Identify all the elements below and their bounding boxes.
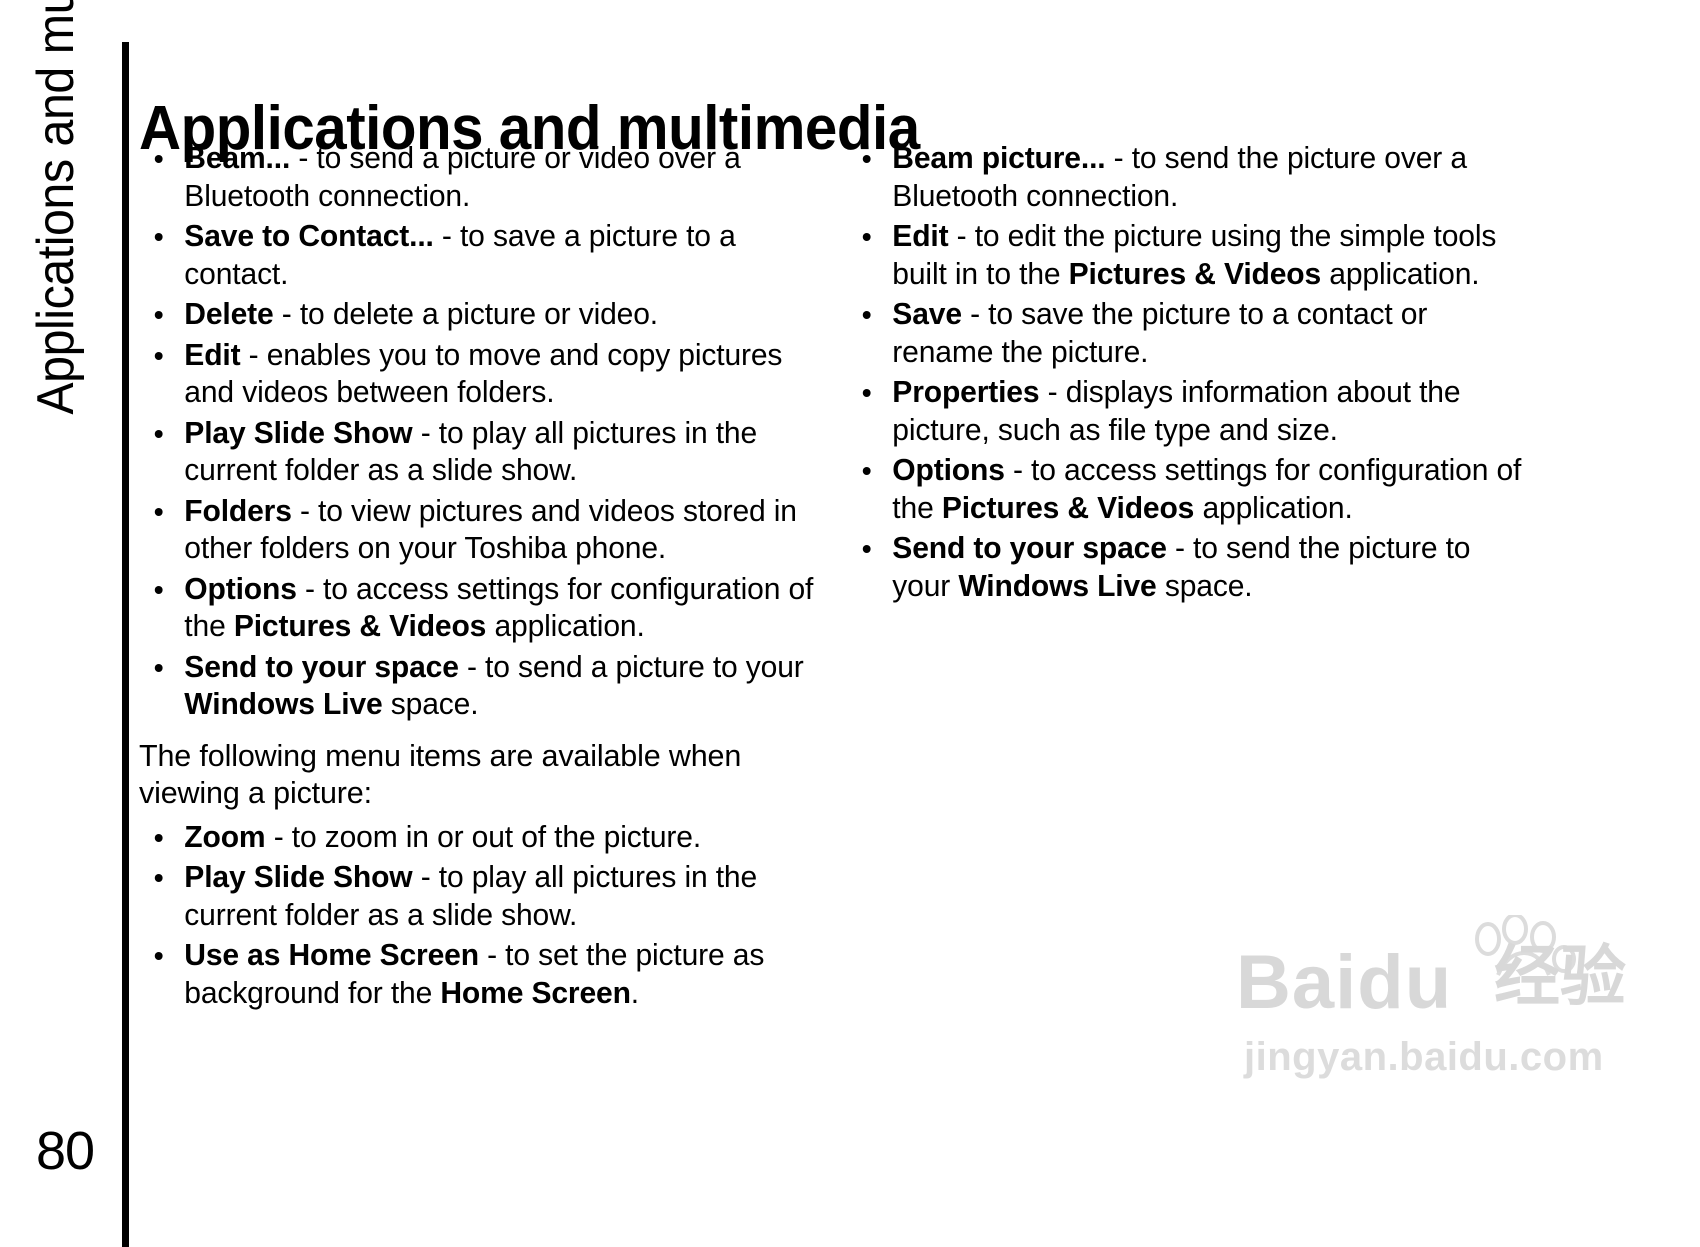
list-item-description: - to send a picture to your xyxy=(459,650,804,684)
watermark-url: jingyan.baidu.com xyxy=(1244,1037,1604,1077)
list-item-term: Beam... xyxy=(184,141,290,175)
right-column: Beam picture... - to send the picture ov… xyxy=(839,140,1539,1015)
list-item: Folders - to view pictures and videos st… xyxy=(139,493,821,568)
list-item: Beam picture... - to send the picture ov… xyxy=(847,140,1529,215)
bullet-dot-icon xyxy=(863,311,871,319)
bullet-dot-icon xyxy=(155,155,163,163)
list-item-term: Options xyxy=(892,453,1004,487)
bullet-dot-icon xyxy=(155,508,163,516)
list-item-term: Edit xyxy=(892,219,948,253)
list-item-term: Delete xyxy=(184,297,273,331)
bullet-dot-icon xyxy=(155,586,163,594)
list-item-term: Zoom xyxy=(184,820,265,854)
list-item-term: Edit xyxy=(184,338,240,372)
list-item-term: Play Slide Show xyxy=(184,860,412,894)
list-item: Save - to save the picture to a contact … xyxy=(847,296,1529,371)
list-item: Send to your space - to send the picture… xyxy=(847,530,1529,605)
list-item-term: Save xyxy=(892,297,962,331)
list-item-description-tail: space. xyxy=(1157,569,1253,603)
list-item-description-tail: application. xyxy=(1321,257,1479,291)
sidebar-vertical-rule xyxy=(122,42,129,1247)
list-item: Options - to access settings for configu… xyxy=(139,571,821,646)
list-item-term: Options xyxy=(184,572,296,606)
left-column: Beam... - to send a picture or video ove… xyxy=(131,140,831,1015)
bullet-dot-icon xyxy=(863,389,871,397)
list-item: Play Slide Show - to play all pictures i… xyxy=(139,859,821,934)
list-item-term: Save to Contact... xyxy=(184,219,433,253)
sidebar-chapter-title: Applications and multimedia xyxy=(30,0,82,415)
list-item-emphasis: Windows Live xyxy=(184,687,382,721)
list-item-emphasis: Windows Live xyxy=(958,569,1156,603)
bullet-dot-icon xyxy=(155,834,163,842)
list-item: Beam... - to send a picture or video ove… xyxy=(139,140,821,215)
list-item: Properties - displays information about … xyxy=(847,374,1529,449)
bullet-dot-icon xyxy=(863,233,871,241)
list-item: Edit - to edit the picture using the sim… xyxy=(847,218,1529,293)
list-item-description: - to save the picture to a contact or re… xyxy=(892,297,1427,369)
bullet-dot-icon xyxy=(863,155,871,163)
list-item: Zoom - to zoom in or out of the picture. xyxy=(139,819,821,857)
list-item-term: Send to your space xyxy=(892,531,1166,565)
list-item: Save to Contact... - to save a picture t… xyxy=(139,218,821,293)
bullet-dot-icon xyxy=(155,952,163,960)
list-item-term: Folders xyxy=(184,494,291,528)
list-item-description-tail: space. xyxy=(383,687,479,721)
page-content: Applications and multimedia Beam... - to… xyxy=(131,0,1700,1247)
list-item: Use as Home Screen - to set the picture … xyxy=(139,937,821,1012)
list-item: Delete - to delete a picture or video. xyxy=(139,296,821,334)
list-item-description: - enables you to move and copy pictures … xyxy=(184,338,782,410)
list-item-description: - to zoom in or out of the picture. xyxy=(265,820,701,854)
left-bullet-list-2: Zoom - to zoom in or out of the picture.… xyxy=(131,819,831,1013)
list-item-description-tail: application. xyxy=(486,609,644,643)
list-item-term: Beam picture... xyxy=(892,141,1105,175)
list-item-term: Play Slide Show xyxy=(184,416,412,450)
bullet-dot-icon xyxy=(155,430,163,438)
list-item: Options - to access settings for configu… xyxy=(847,452,1529,527)
list-item: Send to your space - to send a picture t… xyxy=(139,649,821,724)
bullet-dot-icon xyxy=(155,664,163,672)
list-item-term: Use as Home Screen xyxy=(184,938,479,972)
intro-paragraph: The following menu items are available w… xyxy=(131,738,831,813)
list-item-emphasis: Pictures & Videos xyxy=(1069,257,1321,291)
list-item-description: - to delete a picture or video. xyxy=(274,297,658,331)
list-item-emphasis: Pictures & Videos xyxy=(234,609,486,643)
list-item-term: Send to your space xyxy=(184,650,458,684)
page-number: 80 xyxy=(36,1124,94,1178)
bullet-dot-icon xyxy=(863,545,871,553)
list-item: Play Slide Show - to play all pictures i… xyxy=(139,415,821,490)
list-item-emphasis: Home Screen xyxy=(440,976,630,1010)
bullet-dot-icon xyxy=(155,311,163,319)
sidebar: Applications and multimedia 80 xyxy=(0,0,131,1247)
bullet-dot-icon xyxy=(155,874,163,882)
sidebar-chapter-title-wrapper: Applications and multimedia xyxy=(11,0,101,925)
two-column-body: Beam... - to send a picture or video ove… xyxy=(131,140,1700,1015)
bullet-dot-icon xyxy=(155,233,163,241)
list-item-term: Properties xyxy=(892,375,1039,409)
list-item-emphasis: Pictures & Videos xyxy=(942,491,1194,525)
bullet-dot-icon xyxy=(155,352,163,360)
bullet-dot-icon xyxy=(863,467,871,475)
right-bullet-list: Beam picture... - to send the picture ov… xyxy=(839,140,1539,605)
list-item-description-tail: application. xyxy=(1194,491,1352,525)
list-item: Edit - enables you to move and copy pict… xyxy=(139,337,821,412)
left-bullet-list-1: Beam... - to send a picture or video ove… xyxy=(131,140,831,724)
list-item-description-tail: . xyxy=(631,976,639,1010)
